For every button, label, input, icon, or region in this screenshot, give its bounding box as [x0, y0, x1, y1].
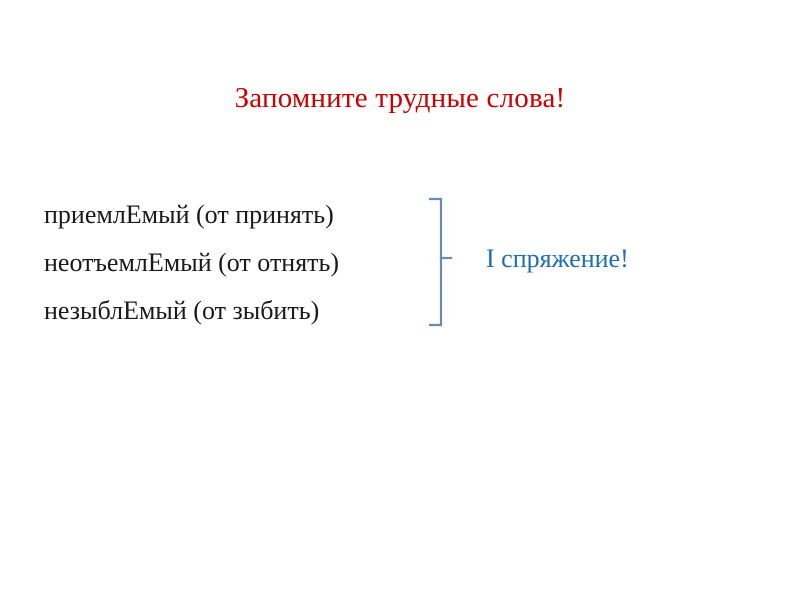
conjugation-label: I спряжение!: [486, 243, 629, 275]
word-list: приемлЕмый (от принять) неотъемлЕмый (от…: [44, 191, 424, 335]
slide-canvas: Запомните трудные слова! приемлЕмый (от …: [0, 0, 800, 600]
list-item: незыблЕмый (от зыбить): [44, 287, 424, 335]
brace-icon: [424, 196, 460, 330]
brace-shape: [424, 196, 460, 330]
page-title: Запомните трудные слова!: [0, 81, 800, 115]
list-item: неотъемлЕмый (от отнять): [44, 239, 424, 287]
list-item: приемлЕмый (от принять): [44, 191, 424, 239]
